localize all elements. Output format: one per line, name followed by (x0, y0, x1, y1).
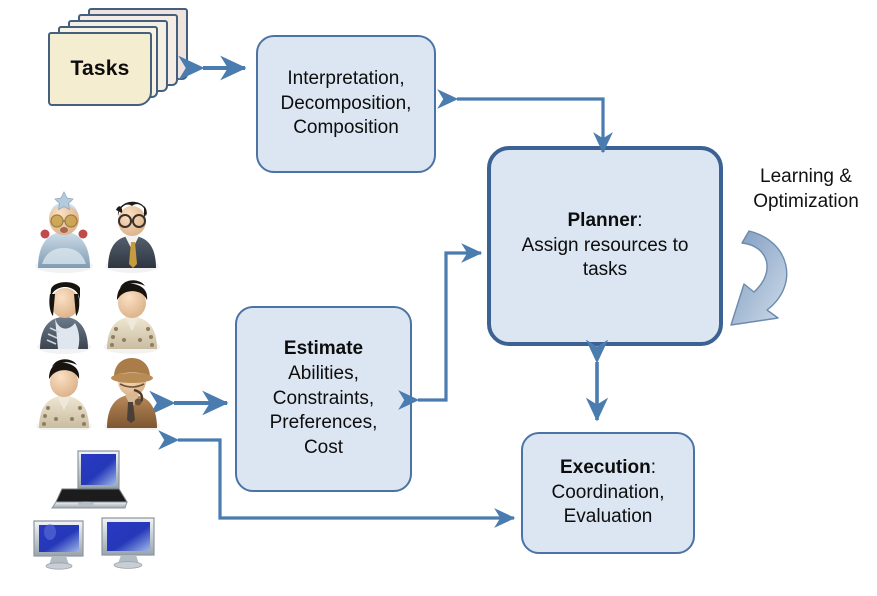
person-man-pompadour-jacket-2-icon (36, 359, 92, 430)
tasks-document-stack: Tasks (46, 6, 192, 106)
node-planner[interactable]: Planner: Assign resources to tasks (487, 146, 723, 346)
people-resource-group (28, 190, 168, 430)
connector-interpretation-to-planner (457, 99, 603, 152)
laptop-computer-icon (52, 451, 127, 508)
desktop-monitor-left-icon (34, 521, 83, 569)
estimate-line-2: Constraints, (273, 388, 374, 409)
planner-line-1: Assign resources to (522, 235, 689, 256)
execution-line-1: Coordination, (551, 482, 664, 503)
planner-heading-colon: : (637, 210, 642, 231)
diagram-canvas: Tasks Interpretation, Decomposition, Com… (0, 0, 877, 596)
estimate-line-4: Cost (304, 437, 343, 458)
estimate-line-1: Abilities, (288, 363, 359, 384)
interpretation-line-1: Interpretation, (287, 68, 404, 89)
execution-line-2: Evaluation (564, 506, 653, 527)
estimate-line-3: Preferences, (270, 412, 378, 433)
learning-optimization-label: Learning & Optimization (736, 164, 876, 214)
person-man-pompadour-jacket-icon (104, 280, 160, 354)
desktop-monitor-right-icon (102, 518, 154, 568)
person-woman-dark-hair-icon (37, 282, 91, 354)
node-interpretation[interactable]: Interpretation, Decomposition, Compositi… (256, 35, 436, 173)
connector-learning-optimization-loop (731, 231, 787, 325)
interpretation-line-2: Decomposition, (281, 93, 412, 114)
planner-heading: Planner (568, 210, 638, 231)
person-elderly-woman-star-hat-icon (35, 192, 93, 273)
execution-heading-colon: : (651, 457, 656, 478)
planner-line-2: tasks (583, 259, 627, 280)
person-detective-hat-pipe-icon (104, 358, 160, 430)
connector-estimate-to-planner (418, 253, 481, 400)
person-man-glasses-suit-icon (105, 202, 159, 273)
node-estimate[interactable]: Estimate Abilities, Constraints, Prefere… (235, 306, 412, 492)
tasks-label: Tasks (48, 32, 152, 106)
node-execution[interactable]: Execution: Coordination, Evaluation (521, 432, 695, 554)
learning-line-2: Optimization (753, 191, 859, 212)
interpretation-line-3: Composition (293, 117, 399, 138)
learning-line-1: Learning & (760, 166, 852, 187)
estimate-heading: Estimate (284, 338, 363, 359)
execution-heading: Execution (560, 457, 651, 478)
device-resource-group (26, 440, 186, 570)
